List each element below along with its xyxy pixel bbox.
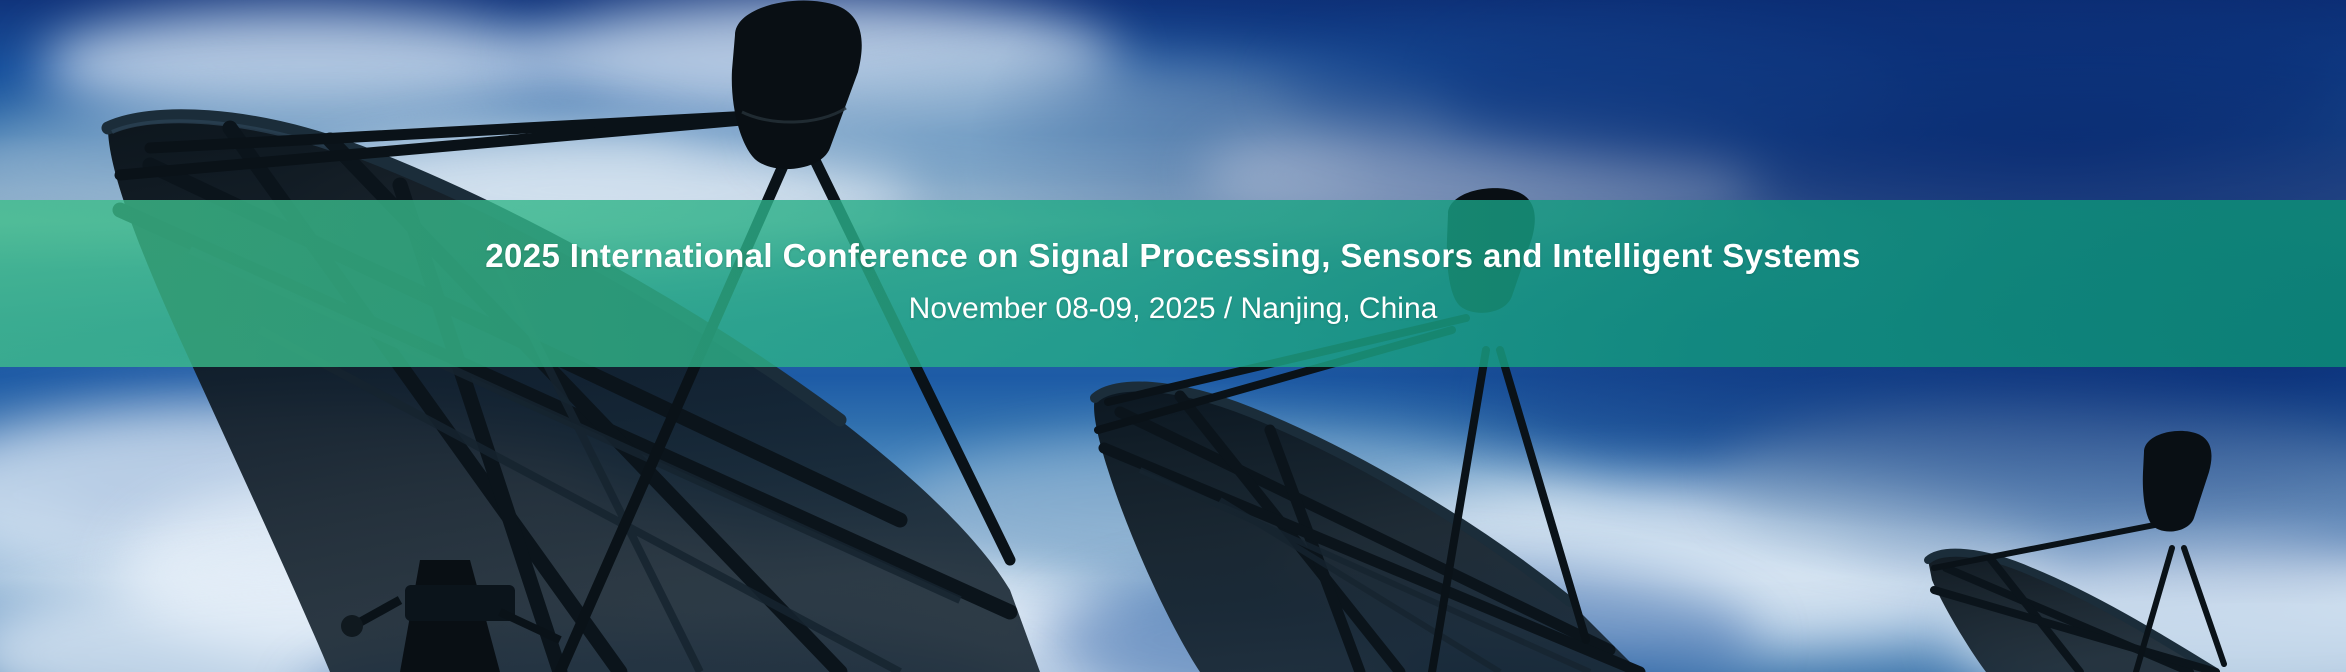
conference-banner: 2025 International Conference on Signal … (0, 0, 2346, 672)
satellite-dish-small-right (1928, 431, 2224, 672)
title-banner-overlay: 2025 International Conference on Signal … (0, 200, 2346, 367)
dish-reflector-right (1928, 553, 2216, 672)
conference-date-location: November 08-09, 2025 / Nanjing, China (909, 294, 1438, 324)
conference-title: 2025 International Conference on Signal … (485, 239, 1861, 272)
feed-horn-left (732, 1, 862, 170)
feed-horn-right (2143, 431, 2212, 532)
